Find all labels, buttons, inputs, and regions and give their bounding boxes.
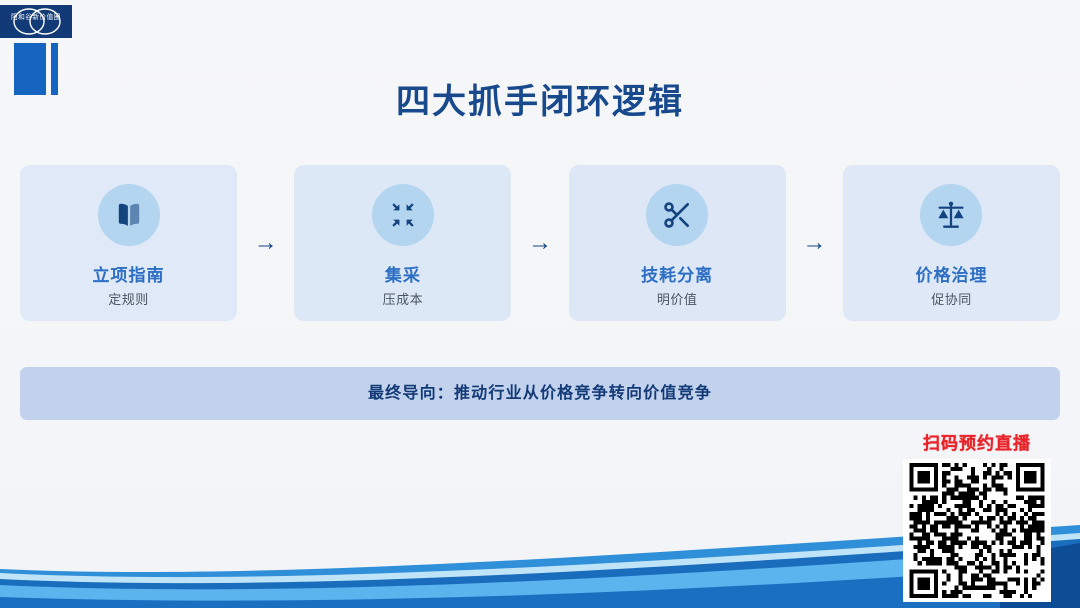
qr-label: 扫码预约直播 xyxy=(897,434,1057,454)
summary-banner-text: 最终导向：推动行业从价格竞争转向价值竞争 xyxy=(368,384,712,403)
logo-text: 阳和谷新价值圈 xyxy=(2,14,70,21)
slide-canvas: 阳和谷新价值圈 四大抓手闭环逻辑 立项指南 定规则 → xyxy=(0,0,1080,608)
open-book-icon xyxy=(98,184,160,246)
logo-badge: 阳和谷新价值圈 xyxy=(0,5,72,38)
flow-arrow-2: → xyxy=(511,165,568,321)
flow-step-card-1[interactable]: 立项指南 定规则 xyxy=(20,165,237,321)
flow-step-title: 集采 xyxy=(385,267,421,286)
qr-block: 扫码预约直播 xyxy=(897,434,1057,602)
flow-step-title: 技耗分离 xyxy=(641,267,713,286)
logo: 阳和谷新价值圈 xyxy=(0,0,80,95)
flow-row: 立项指南 定规则 → 集采 压成本 → xyxy=(20,165,1060,321)
flow-step-subtitle: 明价值 xyxy=(657,293,698,307)
summary-banner: 最终导向：推动行业从价格竞争转向价值竞争 xyxy=(20,367,1060,420)
flow-step-subtitle: 定规则 xyxy=(108,293,149,307)
flow-arrow-1: → xyxy=(237,165,294,321)
page-title: 四大抓手闭环逻辑 xyxy=(0,82,1080,123)
flow-step-title: 立项指南 xyxy=(93,267,165,286)
compress-arrows-icon xyxy=(372,184,434,246)
balance-scale-icon xyxy=(920,184,982,246)
flow-step-card-3[interactable]: 技耗分离 明价值 xyxy=(569,165,786,321)
flow-arrow-3: → xyxy=(786,165,843,321)
qr-code-icon[interactable] xyxy=(903,459,1051,602)
flow-step-subtitle: 促协同 xyxy=(931,293,972,307)
flow-step-card-2[interactable]: 集采 压成本 xyxy=(294,165,511,321)
flow-step-card-4[interactable]: 价格治理 促协同 xyxy=(843,165,1060,321)
overlapping-rings-icon xyxy=(8,7,66,36)
scissors-icon xyxy=(646,184,708,246)
flow-step-subtitle: 压成本 xyxy=(383,293,424,307)
flow-step-title: 价格治理 xyxy=(915,267,987,286)
